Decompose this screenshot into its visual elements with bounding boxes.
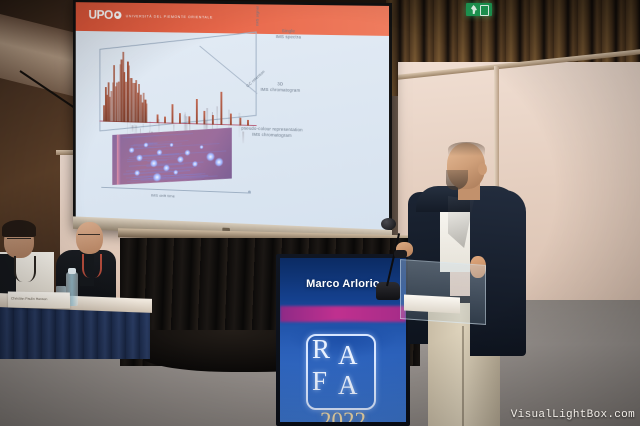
pseudocolour-heatmap — [112, 128, 232, 185]
drift-time-axis — [101, 187, 251, 194]
label-3d-chromatogram: 3D IMS chromatogram — [260, 81, 300, 94]
rafa-letter-r: R — [312, 336, 330, 363]
upo-subtitle: UNIVERSITÀ DEL PIEMONTE ORIENTALE — [126, 14, 213, 19]
panelist-name-card: Christian Paulin Hansen — [8, 291, 70, 308]
chromatogram-ghost-trace — [142, 123, 143, 130]
heatmap-spot — [129, 147, 135, 153]
exit-sign-icon — [466, 3, 492, 16]
upo-wordmark: UPO — [88, 8, 121, 21]
heatmap-spot — [173, 170, 177, 175]
rafa-letter-a1: A — [338, 342, 358, 369]
lectern-notes — [404, 295, 460, 314]
rafa-year-label: 2022 — [280, 408, 406, 422]
heatmap-spot — [215, 158, 223, 167]
speaker-leg-seam — [462, 326, 464, 426]
heatmap-spot — [153, 173, 161, 182]
chromatogram-peak — [230, 114, 231, 126]
chromatogram-peak — [179, 113, 180, 124]
presenter-remote — [394, 250, 407, 258]
rafa-letter-f: F — [312, 368, 327, 395]
heatmap-spot — [206, 152, 214, 161]
label-pseudocolour: pseudo-colour representation IMS chromat… — [241, 126, 302, 140]
chromatogram-peak — [146, 103, 148, 122]
chromatogram-peak — [220, 92, 221, 125]
label-x-axis: IMS drift time — [151, 193, 175, 199]
chromatogram-peak — [196, 99, 197, 124]
heatmap-spot — [185, 150, 190, 156]
chromatogram-peak — [172, 104, 173, 123]
heatmap-spot — [200, 145, 204, 149]
panelist-one-glasses-icon — [7, 238, 31, 244]
speaker-ear — [478, 163, 487, 175]
photo-scene: UPO UNIVERSITÀ DEL PIEMONTE ORIENTALE Si… — [0, 0, 640, 426]
rafa-letter-a2: A — [338, 372, 358, 399]
heatmap-spot — [170, 143, 174, 147]
label-y-axis: IMS signal — [255, 6, 260, 26]
label-single-ims: Single IMS spectra — [276, 28, 301, 41]
slide-header-band: UPO UNIVERSITÀ DEL PIEMONTE ORIENTALE — [76, 2, 389, 36]
speaker-hairline — [448, 142, 485, 156]
acrylic-lectern-top — [400, 259, 486, 325]
chromatogram-ghost-trace — [239, 113, 240, 137]
projection-screen: UPO UNIVERSITÀ DEL PIEMONTE ORIENTALE Si… — [73, 0, 392, 243]
chromatogram-peak — [164, 117, 165, 124]
chromatogram-ghost-trace — [150, 121, 151, 134]
microphone-icon — [381, 218, 396, 230]
heatmap-spot — [144, 142, 148, 147]
slide-surface: UPO UNIVERSITÀ DEL PIEMONTE ORIENTALE Si… — [76, 2, 389, 230]
panelist-two-glasses-icon — [78, 234, 100, 239]
heatmap-spot — [150, 159, 157, 167]
heatmap-streak — [149, 148, 183, 151]
upo-logo: UPO UNIVERSITÀ DEL PIEMONTE ORIENTALE — [88, 8, 212, 22]
panelist-two-lanyard — [82, 254, 102, 278]
upo-dot-icon — [114, 11, 121, 19]
chromatogram-3d-plot — [99, 39, 256, 126]
watermark: VisualLightBox.com — [511, 409, 635, 421]
chromatogram-ghost-trace — [158, 120, 159, 133]
name-card-text: Christian Paulin Hansen — [11, 297, 47, 302]
panelist-one-lanyard — [14, 256, 36, 282]
heatmap-left-band — [117, 134, 121, 184]
water-bottle-cap — [68, 268, 76, 274]
panel-table-skirt — [0, 305, 150, 359]
heatmap-spot — [134, 170, 139, 176]
panelist-one-hair — [2, 220, 36, 237]
chromatogram-ghost-trace — [132, 125, 133, 132]
